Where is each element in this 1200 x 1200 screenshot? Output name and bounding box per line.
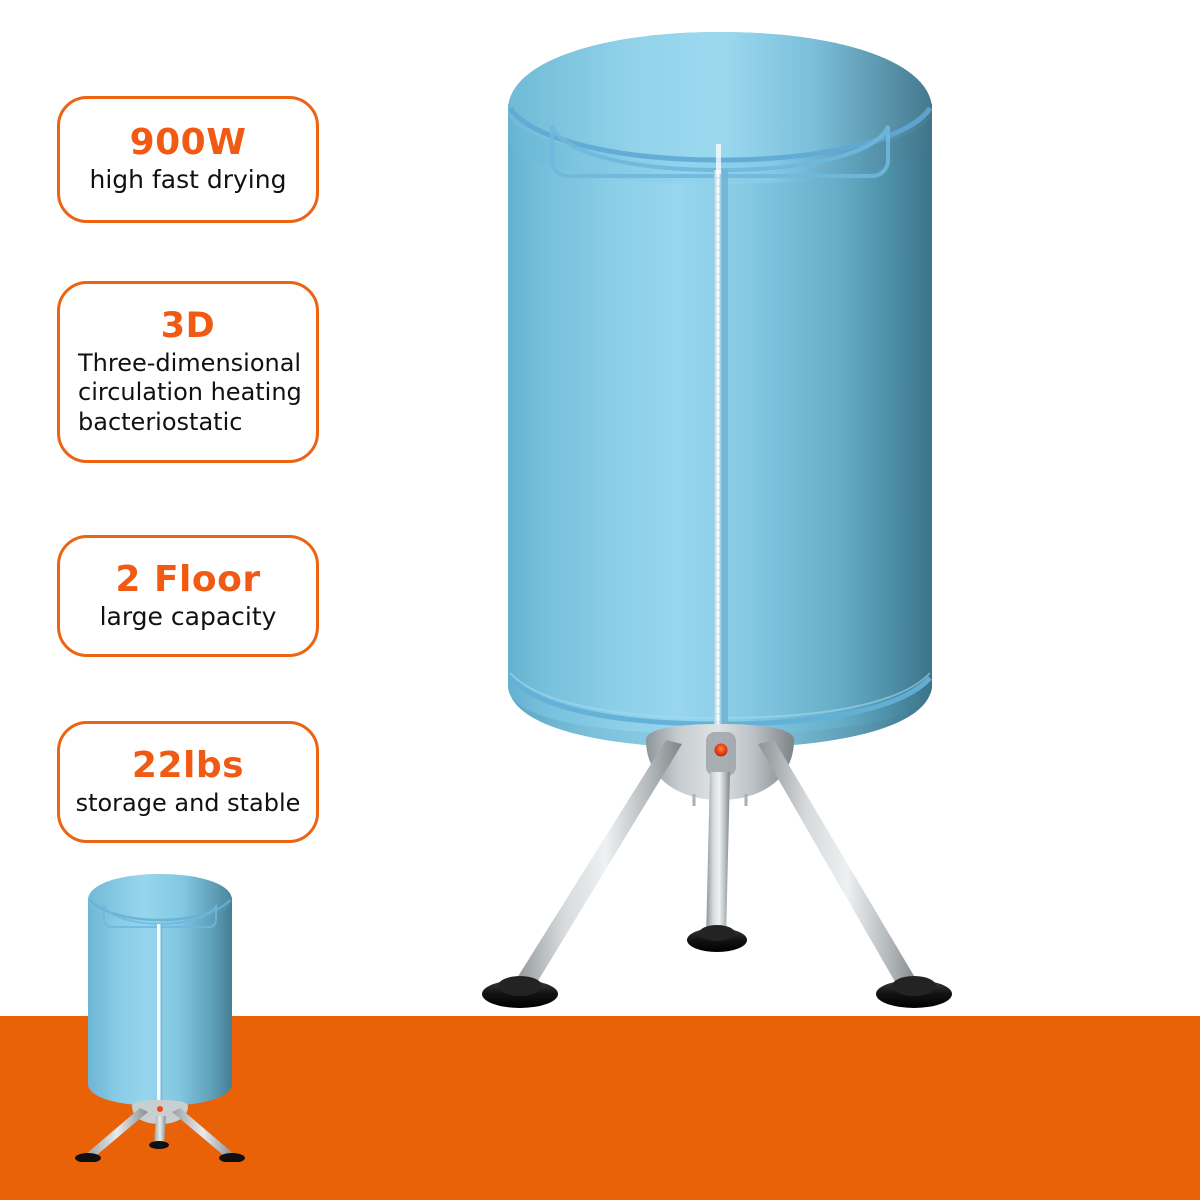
thumb-leg-center bbox=[154, 1116, 166, 1144]
thumb-leg-left bbox=[86, 1108, 148, 1159]
thumb-zipper-stripe bbox=[161, 924, 163, 1104]
tripod-foot-right-top bbox=[892, 976, 936, 996]
feature-headline: 2 Floor bbox=[115, 560, 260, 600]
dryer-lid-top bbox=[508, 32, 932, 158]
hero-product-image bbox=[470, 18, 970, 1018]
feature-headline: 900W bbox=[130, 123, 247, 163]
thumb-leg-right bbox=[172, 1108, 234, 1159]
tripod-leg-left bbox=[512, 740, 682, 994]
dryer-zipper-top bbox=[716, 144, 721, 174]
thumb-power-indicator-led bbox=[157, 1106, 163, 1112]
feature-subtext: high fast drying bbox=[90, 165, 287, 196]
feature-subtext: large capacity bbox=[100, 602, 277, 633]
feature-callout-power: 900W high fast drying bbox=[57, 96, 319, 223]
thumb-zipper bbox=[157, 924, 161, 1104]
feature-headline: 22lbs bbox=[132, 746, 244, 786]
dryer-zipper-stripe bbox=[723, 170, 728, 732]
feature-subtext-line-1: Three-dimensional bbox=[74, 349, 301, 378]
feature-headline: 3D bbox=[161, 307, 215, 346]
tripod-leg-center bbox=[706, 772, 730, 938]
power-indicator-led bbox=[715, 744, 728, 757]
tripod-leg-right bbox=[758, 740, 920, 994]
tripod-foot-left-top bbox=[498, 976, 542, 996]
feature-callout-capacity: 2 Floor large capacity bbox=[57, 535, 319, 657]
dryer-zipper-edge bbox=[714, 170, 717, 732]
feature-subtext-line-2: circulation heating bbox=[74, 378, 302, 407]
thumb-dryer-lid bbox=[88, 874, 232, 922]
feature-subtext: storage and stable bbox=[76, 789, 301, 818]
feature-subtext-line-3: bacteriostatic bbox=[74, 408, 242, 437]
thumb-foot-center bbox=[149, 1141, 169, 1149]
thumbnail-product-image bbox=[60, 862, 260, 1162]
tripod-foot-center-top bbox=[699, 925, 735, 941]
infographic-canvas: 900W high fast drying 3D Three-dimension… bbox=[0, 0, 1200, 1200]
feature-callout-weight: 22lbs storage and stable bbox=[57, 721, 319, 843]
feature-callout-three-d: 3D Three-dimensional circulation heating… bbox=[57, 281, 319, 463]
